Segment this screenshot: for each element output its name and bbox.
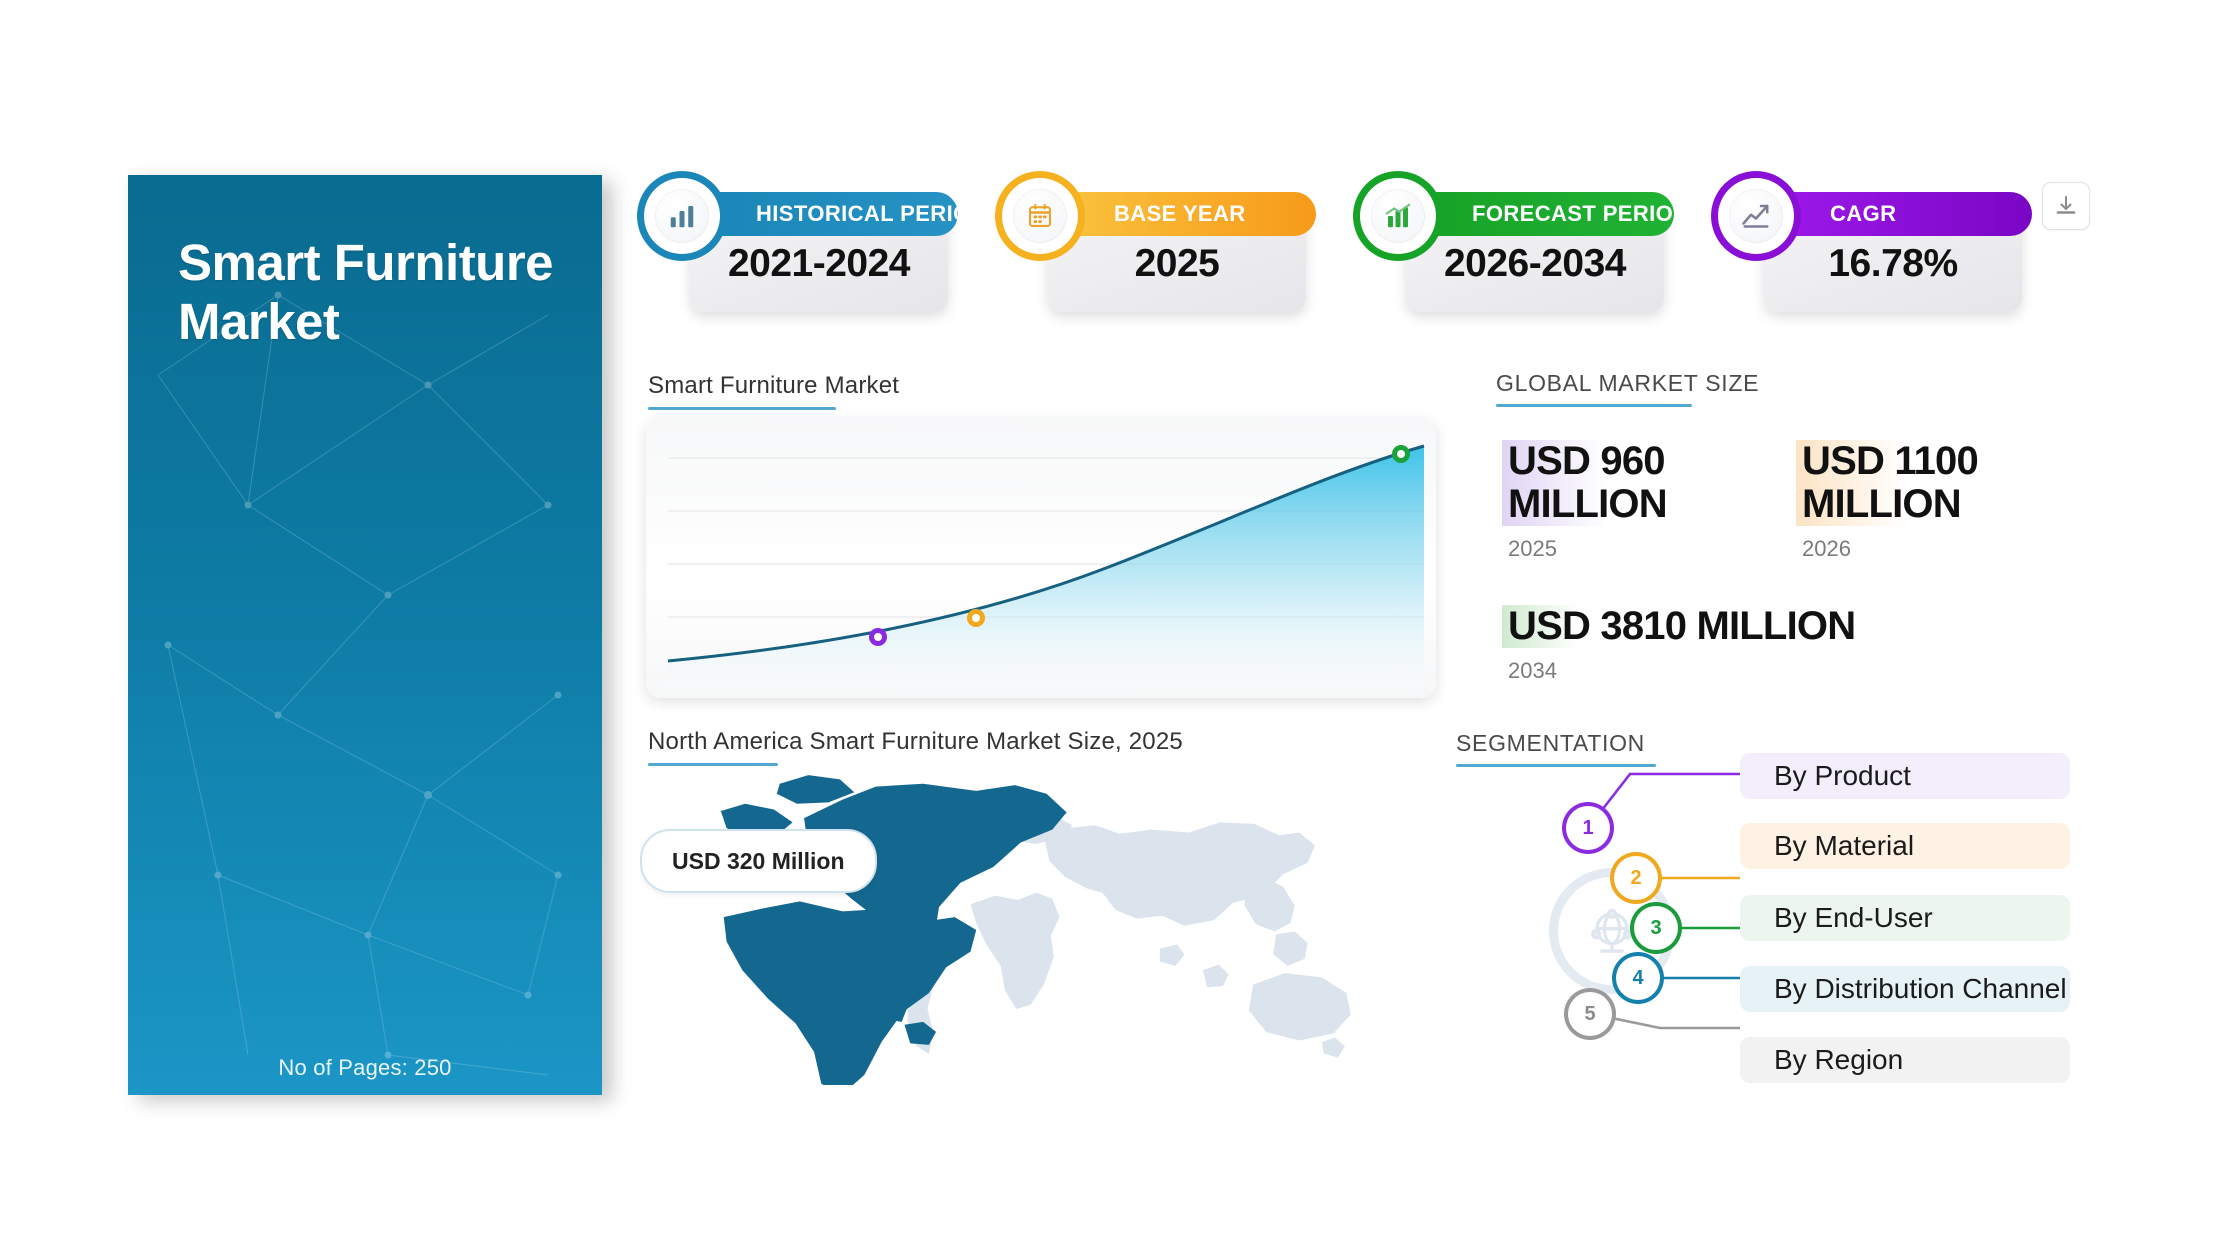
market-size-value: USD 3810 MILLION bbox=[1502, 605, 1855, 648]
segmentation-label: By Product bbox=[1774, 760, 1911, 792]
segmentation-node-1[interactable]: 1 bbox=[1566, 806, 1610, 850]
market-size-value: USD 1100 MILLION bbox=[1796, 440, 2056, 526]
growth-chart-icon bbox=[1371, 189, 1425, 243]
segmentation-item-by-product[interactable]: By Product bbox=[1740, 753, 2070, 799]
infographic-canvas: Smart Furniture Market No of Pages: 250 … bbox=[0, 0, 2240, 1260]
market-size-heading: GLOBAL MARKET SIZE bbox=[1496, 370, 1759, 407]
segmentation-item-by-distribution-channel[interactable]: By Distribution Channel bbox=[1740, 966, 2070, 1012]
hub-network-icon bbox=[1584, 903, 1640, 959]
badge-value: 2025 bbox=[1048, 242, 1306, 286]
map-callout-text: USD 320 Million bbox=[672, 848, 845, 875]
calendar-icon bbox=[1013, 189, 1067, 243]
market-growth-chart bbox=[646, 418, 1436, 698]
chart-section-heading: Smart Furniture Market bbox=[648, 372, 899, 410]
world-map: USD 320 Million bbox=[640, 755, 1400, 1085]
market-size-item-2034: USD 3810 MILLION 2034 bbox=[1502, 605, 2062, 684]
badge-value: 2021-2024 bbox=[690, 242, 948, 286]
segmentation-label: By Distribution Channel bbox=[1774, 973, 2067, 1005]
segmentation-node-4[interactable]: 4 bbox=[1616, 956, 1660, 1000]
chart-svg bbox=[646, 418, 1436, 698]
badge-value: 2026-2034 bbox=[1406, 242, 1664, 286]
heading-underline bbox=[648, 407, 836, 410]
page-title: Smart Furniture Market bbox=[178, 233, 578, 351]
market-size-item-2025: USD 960 MILLION 2025 bbox=[1502, 440, 1752, 562]
badge-label: BASE YEAR bbox=[1072, 192, 1316, 236]
segmentation-item-by-region[interactable]: By Region bbox=[1740, 1037, 2070, 1083]
node-number: 3 bbox=[1650, 917, 1661, 940]
segmentation-label: By Region bbox=[1774, 1044, 1903, 1076]
node-number: 2 bbox=[1630, 867, 1641, 890]
badge-value: 16.78% bbox=[1764, 242, 2022, 286]
node-number: 1 bbox=[1582, 817, 1593, 840]
chart-heading-text: Smart Furniture Market bbox=[648, 372, 899, 399]
page-count-label: No of Pages: 250 bbox=[128, 1055, 602, 1081]
segmentation-heading-text: SEGMENTATION bbox=[1456, 730, 1645, 756]
market-size-year: 2026 bbox=[1796, 536, 2056, 562]
segmentation-item-by-end-user[interactable]: By End-User bbox=[1740, 895, 2070, 941]
segmentation-label: By End-User bbox=[1774, 902, 1933, 934]
badge-ring bbox=[644, 178, 720, 254]
segmentation-item-by-material[interactable]: By Material bbox=[1740, 823, 2070, 869]
map-heading-text: North America Smart Furniture Market Siz… bbox=[648, 728, 1183, 755]
market-size-year: 2034 bbox=[1502, 658, 2062, 684]
badge-ring bbox=[1718, 178, 1794, 254]
badge-ring bbox=[1002, 178, 1078, 254]
bar-chart-icon bbox=[655, 189, 709, 243]
trend-up-icon bbox=[1729, 189, 1783, 243]
segmentation-node-2[interactable]: 2 bbox=[1614, 856, 1658, 900]
badge-label: FORECAST PERIOD bbox=[1430, 192, 1674, 236]
segmentation-node-5[interactable]: 5 bbox=[1568, 992, 1612, 1036]
chart-area-fill bbox=[668, 446, 1424, 690]
download-icon bbox=[2054, 194, 2078, 218]
badge-label: CAGR bbox=[1788, 192, 2032, 236]
heading-underline bbox=[1496, 404, 1692, 407]
badge-ring bbox=[1360, 178, 1436, 254]
market-size-year: 2025 bbox=[1502, 536, 1752, 562]
badge-label: HISTORICAL PERIOD bbox=[714, 192, 958, 236]
market-size-value: USD 960 MILLION bbox=[1502, 440, 1752, 526]
market-size-item-2026: USD 1100 MILLION 2026 bbox=[1796, 440, 2056, 562]
market-size-heading-text: GLOBAL MARKET SIZE bbox=[1496, 370, 1759, 396]
node-number: 5 bbox=[1584, 1003, 1595, 1026]
segmentation-label: By Material bbox=[1774, 830, 1914, 862]
sidebar-panel: Smart Furniture Market No of Pages: 250 … bbox=[128, 175, 602, 1095]
download-button[interactable] bbox=[2042, 182, 2090, 230]
map-callout-badge: USD 320 Million bbox=[640, 829, 877, 893]
segmentation-node-3[interactable]: 3 bbox=[1634, 906, 1678, 950]
world-map-svg bbox=[640, 755, 1400, 1085]
node-number: 4 bbox=[1632, 967, 1643, 990]
